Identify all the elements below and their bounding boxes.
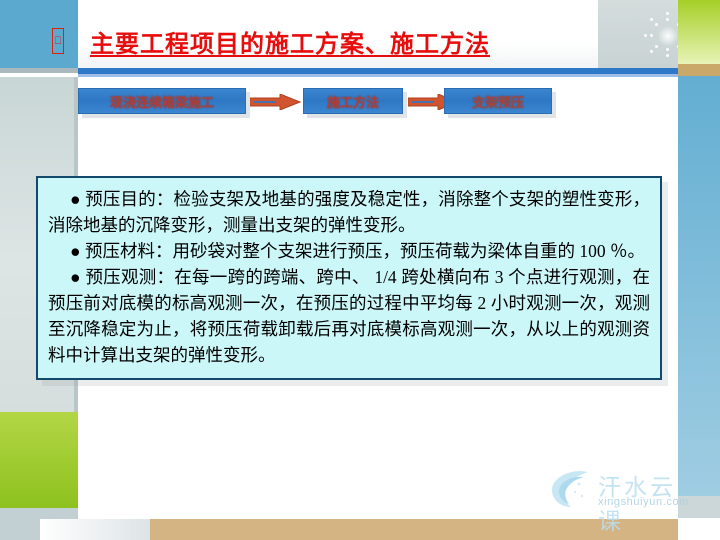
process-flow-diagram: 现浇连续箱梁施工 施工方法 支架预压 [78,82,678,130]
right-rail-tan [678,64,720,76]
sunburst-core [658,26,678,46]
content-textbox: ● 预压目的：检验支架及地基的强度及稳定性，消除整个支架的塑性变形，消除地基的沉… [36,176,662,380]
sunburst-ray [655,23,658,26]
missing-glyph-box-icon: ⎕ [52,28,64,54]
page-title: 主要工程项目的施工方案、施工方法 [90,24,490,59]
flow-box-3[interactable]: 支架预压 [444,88,552,114]
bullet-paragraph-1: ● 预压目的：检验支架及地基的强度及稳定性，消除整个支架的塑性变形，消除地基的沉… [48,186,650,238]
sunburst-ray [650,50,653,53]
right-rail-green [678,0,720,64]
flow-box-2-label: 施工方法 [327,92,379,111]
sunburst-ray [666,12,669,15]
slide-title: ⎕ 主要工程项目的施工方案、施工方法 [52,20,612,62]
flow-box-3-label: 支架预压 [472,92,524,111]
right-rail-blue [678,76,720,496]
title-underline-rule-light [78,74,678,77]
flow-box-1[interactable]: 现浇连续箱梁施工 [78,88,246,114]
bottom-band-left [0,519,40,540]
sunburst-ray [650,18,653,21]
sunburst-ray [650,34,653,37]
wave-icon [548,466,592,510]
bullet-paragraph-2: ● 预压材料：用砂袋对整个支架进行预压，预压荷载为梁体自重的 100 ％。 [48,238,650,264]
sunburst-ray [666,54,669,57]
sunburst-ray [666,18,669,21]
flow-box-2[interactable]: 施工方法 [303,88,403,114]
slide-canvas: ⎕ 主要工程项目的施工方案、施工方法 现浇连续箱梁施工 施工方法 支架预压 [0,0,720,540]
sunburst-ray [666,48,669,51]
bottom-band-gradient [40,519,150,540]
flow-box-1-label: 现浇连续箱梁施工 [110,92,214,111]
bullet-paragraph-3: ● 预压观测：在每一跨的跨端、跨中、 1/4 跨处横向布 3 个点进行观测，在预… [48,264,650,368]
watermark-brand-url: xingshuiyun.com [598,496,689,508]
sunburst-ray [655,45,658,48]
sunburst-ray [644,34,647,37]
watermark: 汗水云课 xingshuiyun.com [548,462,698,518]
rail-green-block [0,412,78,508]
flow-arrow-1-icon [250,94,302,110]
